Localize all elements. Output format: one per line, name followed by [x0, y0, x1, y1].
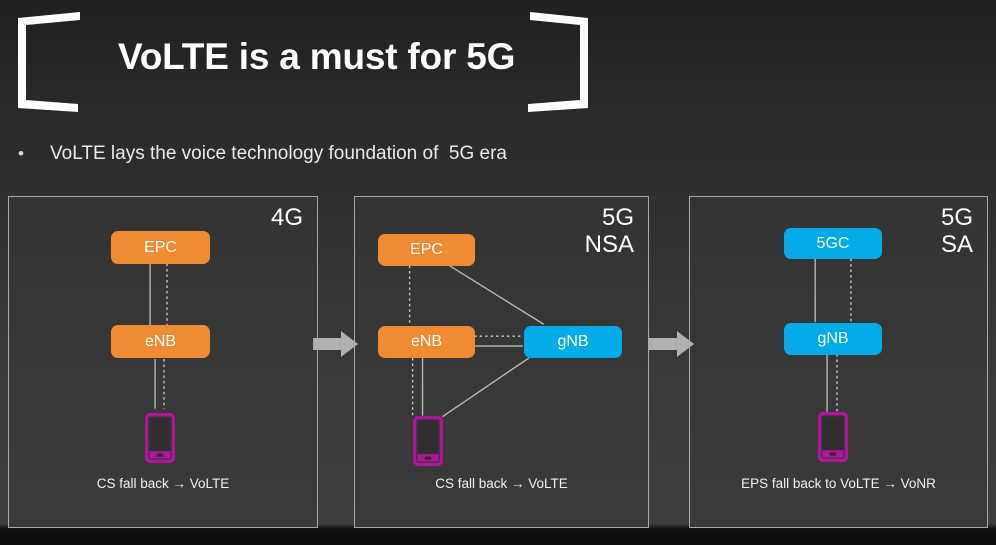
smartphone-icon[interactable] [413, 416, 443, 466]
network-node-enb[interactable]: eNB [378, 326, 475, 358]
network-node-gnb[interactable]: gNB [524, 326, 622, 358]
flow-arrow-right-2 [649, 330, 695, 358]
bullet-marker-icon: • [18, 145, 50, 162]
diagram-panel-5g-nsa[interactable]: 5G NSA EPC eNB gNB [354, 196, 649, 528]
network-node-label: 5GC [817, 235, 850, 253]
network-node-epc[interactable]: EPC [111, 231, 210, 264]
diagram-panel-4g[interactable]: 4G EPC eNB CS fall back → VoLTE [8, 196, 318, 528]
network-node-enb[interactable]: eNB [111, 325, 210, 358]
network-node-gnb[interactable]: gNB [784, 323, 882, 355]
network-node-label: gNB [817, 330, 848, 348]
network-node-label: EPC [144, 239, 177, 257]
network-node-label: eNB [145, 333, 176, 351]
title-bracket-right-decoration [522, 8, 594, 114]
smartphone-icon[interactable] [145, 413, 175, 463]
diagram-panel-5g-sa[interactable]: 5G SA 5GC gNB EPS fall back to VoLTE → V… [689, 196, 988, 528]
title-bracket-left-decoration [14, 8, 82, 114]
bullet-line: • VoLTE lays the voice technology founda… [18, 143, 507, 166]
bullet-text: VoLTE lays the voice technology foundati… [50, 143, 507, 166]
network-node-label: gNB [557, 333, 588, 351]
page-title: VoLTE is a must for 5G [118, 36, 515, 78]
smartphone-icon[interactable] [818, 412, 848, 462]
network-node-5gc[interactable]: 5GC [784, 228, 882, 259]
network-node-label: EPC [410, 241, 443, 259]
flow-arrow-right-1 [313, 330, 359, 358]
network-node-epc[interactable]: EPC [378, 234, 475, 266]
network-node-label: eNB [411, 333, 442, 351]
slide-canvas: VoLTE is a must for 5G • VoLTE lays the … [0, 0, 996, 545]
